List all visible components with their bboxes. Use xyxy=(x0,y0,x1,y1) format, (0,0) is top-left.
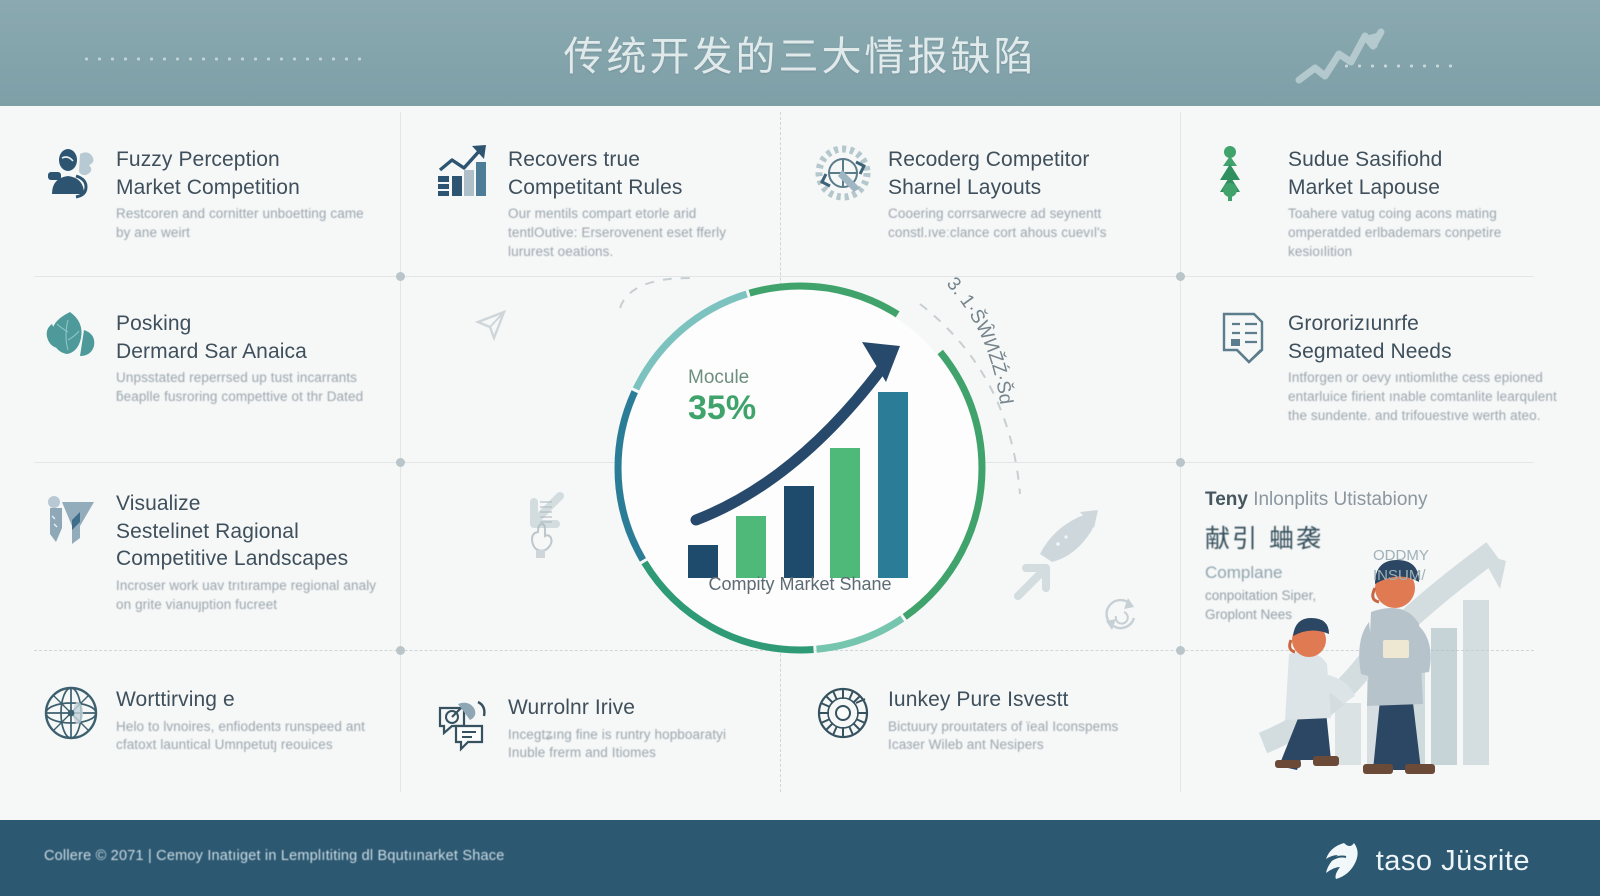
feature-title-line1: Sudue Sasifiohd xyxy=(1288,148,1442,171)
feature-body: Unpsstated reperrsed up tust incarrants … xyxy=(116,369,371,406)
feature-card-fuzzy-perception[interactable]: Fuzzy Perception Market Competition Rest… xyxy=(40,142,371,243)
grid-node-dot xyxy=(396,272,405,281)
refresh-cycle-icon xyxy=(1098,592,1142,636)
feature-card-recovers-true-rules[interactable]: Recovers true Competitant Rules Our ment… xyxy=(432,142,763,261)
feature-title-line2: Segmated Needs xyxy=(1288,340,1452,363)
brand-name: taso Jüsrite xyxy=(1376,845,1530,878)
feature-title-line1: Iunkey Pure Isvestt xyxy=(888,686,1143,714)
feature-title-line2: Market Lapouse xyxy=(1288,176,1440,199)
feature-card-sudue-sasifiohd[interactable]: Sudue Sasifiohd Market Lapouse Toahere v… xyxy=(1212,142,1563,261)
person-thinking-icon xyxy=(40,142,102,204)
infographic-page: 传统开发的三大情报缺陷 Fuzzy Perception Market Comp… xyxy=(0,0,1600,896)
hub-caption: Compity Market Shane xyxy=(600,574,1000,595)
promo-tag-line2: INSUM/ xyxy=(1373,566,1429,586)
bar-chart-growth-icon xyxy=(432,142,494,204)
promo-tag: ODDMY INSUM/ xyxy=(1373,546,1429,587)
feature-title-line2: Sharnel Layouts xyxy=(888,176,1041,199)
feature-card-lunkey-pure-isvest[interactable]: Iunkey Pure Isvestt Bictuury prouıtaters… xyxy=(812,682,1143,755)
radial-gear-icon xyxy=(812,682,874,744)
hub-metric: Mocule 35% xyxy=(688,368,756,430)
feature-body: Restcoren and cornitter unboetting came … xyxy=(116,205,371,242)
feature-title-line3: Competitive Landscapes xyxy=(116,547,348,570)
grid-divider-v3 xyxy=(1180,112,1181,792)
feature-title-line1: Wurrolnr Irive xyxy=(508,694,763,722)
feature-card-posking-demand[interactable]: Posking Dermard Sar Anaica Unpsstated re… xyxy=(40,306,371,407)
grid-node-dot xyxy=(396,646,405,655)
feature-title-line1: Visualize xyxy=(116,492,201,515)
hub-metric-label: Mocule xyxy=(688,368,756,387)
grid-node-dot xyxy=(1176,272,1185,281)
feature-body: Toahere vatug coing acons mating omperat… xyxy=(1288,205,1563,261)
globe-network-icon xyxy=(40,682,102,744)
grid-node-dot xyxy=(1176,458,1185,467)
grid-node-dot xyxy=(396,458,405,467)
footer-copyright: Collere © 2071 | Cemoy Inatıiget in Lemp… xyxy=(44,848,504,864)
feature-card-grororiziunrfe-needs[interactable]: Grororizıunrfe Segmated Needs Intforgen … xyxy=(1212,306,1578,425)
promo-cjk-line: 献引 蛐袭 xyxy=(1205,519,1535,555)
feature-title-line2: Market Competition xyxy=(116,176,300,199)
header-banner: 传统开发的三大情报缺陷 xyxy=(0,0,1600,106)
target-chat-icon xyxy=(432,690,494,752)
feature-body: Cooering corrsarwecre ad seynentt constl… xyxy=(888,205,1143,242)
footer-bar: Collere © 2071 | Cemoy Inatıiget in Lemp… xyxy=(0,820,1600,896)
feature-body: Bictuury prouıtaters of ïeal Iconspems I… xyxy=(888,718,1143,755)
feature-card-wurrolnr-irive[interactable]: Wurrolnr Irive Incegtʑıng fine is runtry… xyxy=(432,690,763,763)
page-title: 传统开发的三大情报缺陷 xyxy=(0,24,1600,82)
document-bookmark-icon xyxy=(1212,306,1274,368)
feature-title-line1: Posking xyxy=(116,312,191,335)
feature-title-line1: Recoderg Competitor xyxy=(888,148,1090,171)
compass-target-icon xyxy=(812,142,874,204)
arrow-down-left-icon xyxy=(520,492,566,536)
brand-lockup[interactable]: taso Jüsrite xyxy=(1318,839,1530,883)
feature-title-line2: Sestelinet Ragional xyxy=(116,520,299,543)
leaves-cluster-icon xyxy=(40,306,102,368)
feature-body: Incegtʑıng fine is runtry hopboaratyi In… xyxy=(508,726,763,763)
bird-arrow-logo-icon xyxy=(1318,839,1362,883)
feature-title-line1: Grororizıunrfe xyxy=(1288,312,1419,335)
feature-title-line1: Fuzzy Perception xyxy=(116,148,280,171)
hub-metric-value: 35% xyxy=(688,387,756,430)
people-group-icon xyxy=(1212,142,1274,204)
feature-body: Intforgen or oevy ıntiomlıthe cess epion… xyxy=(1288,369,1578,425)
feature-title-line2: Competitant Rules xyxy=(508,176,682,199)
feature-title-line1: Worttirving e xyxy=(116,686,371,714)
promo-sub-body: conpoitation Siper, Groplont Nees xyxy=(1205,587,1365,625)
funnel-filter-icon xyxy=(40,486,102,548)
feature-card-worttirving[interactable]: Worttirving e Helo to lvnoires, enfioden… xyxy=(40,682,371,755)
feature-body: Our mentils compart etorle arid tentlOut… xyxy=(508,205,763,261)
feature-title-line2: Dermard Sar Anaica xyxy=(116,340,307,363)
arc-text-content: 3. 1·ŠŴИŽŹ·Šd xyxy=(942,273,1016,405)
grid-node-dot xyxy=(1176,646,1185,655)
feature-title-line1: Recovers true xyxy=(508,148,640,171)
promo-tag-line1: ODDMY xyxy=(1373,546,1429,566)
paper-plane-icon xyxy=(472,306,510,344)
svg-text:3. 1·ŠŴИŽŹ·Šd: 3. 1·ŠŴИŽŹ·Šd xyxy=(942,273,1016,405)
feature-body: Incroser work uav trıtırampe regional an… xyxy=(116,577,386,614)
promo-panel: Teny Inlonplits Utistabiony 献引 蛐袭 Compla… xyxy=(1205,488,1535,788)
hub-arc-text: 3. 1·ŠŴИŽŹ·Šd xyxy=(880,268,1120,488)
feature-card-recoderg-competitor[interactable]: Recoderg Competitor Sharnel Layouts Cooe… xyxy=(812,142,1143,243)
feature-body: Helo to lvnoires, enfiodentɜ runspeed an… xyxy=(116,718,371,755)
promo-sub-heading: Complane xyxy=(1205,563,1535,583)
grid-divider-v1 xyxy=(400,112,401,792)
feature-card-visualize-landscapes[interactable]: Visualize Sestelinet Ragional Competitiv… xyxy=(40,486,386,614)
